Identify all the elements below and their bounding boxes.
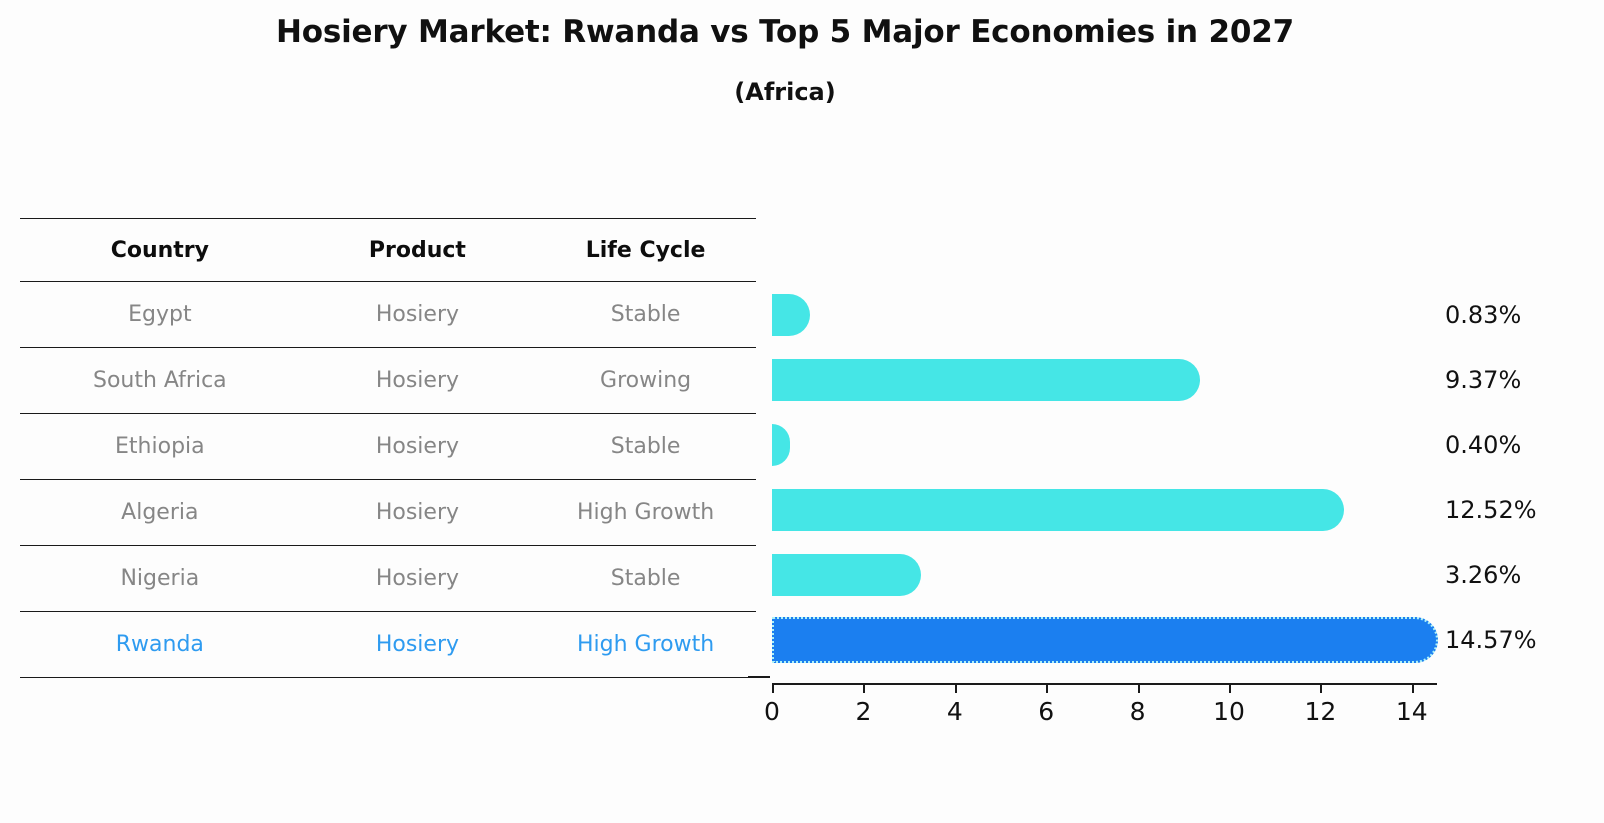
cell-product: Hosiery <box>300 282 536 348</box>
bar-row: 12.52% <box>772 478 1472 543</box>
bar <box>772 554 921 596</box>
x-axis-tick <box>1320 685 1322 693</box>
cell-product: Hosiery <box>300 612 536 678</box>
cell-country: Algeria <box>20 480 300 546</box>
table-row: Ethiopia Hosiery Stable <box>20 414 756 480</box>
cell-product: Hosiery <box>300 480 536 546</box>
x-axis-tick <box>772 685 774 693</box>
page-title: Hosiery Market: Rwanda vs Top 5 Major Ec… <box>0 14 1570 50</box>
x-axis-tick-label: 0 <box>764 697 780 726</box>
bar-row: 9.37% <box>772 348 1472 413</box>
bar-value-label: 12.52% <box>1445 489 1537 531</box>
cell-life-cycle: High Growth <box>535 612 756 678</box>
bar-value-label: 0.83% <box>1445 294 1521 336</box>
x-axis-tick-label: 8 <box>1130 697 1146 726</box>
table-row: Nigeria Hosiery Stable <box>20 546 756 612</box>
cell-life-cycle: High Growth <box>535 480 756 546</box>
x-axis-tick <box>1229 685 1231 693</box>
x-axis-tick-label: 2 <box>855 697 871 726</box>
table-header-row: Country Product Life Cycle <box>20 219 756 282</box>
x-axis-tick-label: 6 <box>1038 697 1054 726</box>
cell-country: South Africa <box>20 348 300 414</box>
x-axis-tick-label: 4 <box>947 697 963 726</box>
x-axis-tick <box>863 685 865 693</box>
table-row: Algeria Hosiery High Growth <box>20 480 756 546</box>
x-axis-tick <box>955 685 957 693</box>
x-axis-tick <box>1412 685 1414 693</box>
table-row: South Africa Hosiery Growing <box>20 348 756 414</box>
bar-value-label: 9.37% <box>1445 359 1521 401</box>
cell-life-cycle: Stable <box>535 546 756 612</box>
cell-product: Hosiery <box>300 546 536 612</box>
bar-value-label: 14.57% <box>1445 619 1537 661</box>
bar <box>772 489 1344 531</box>
page-subtitle: (Africa) <box>0 78 1570 106</box>
x-axis-tick-label: 14 <box>1396 697 1428 726</box>
axis-left-stub <box>748 676 770 678</box>
column-header-product: Product <box>300 219 536 282</box>
cell-country: Egypt <box>20 282 300 348</box>
cell-life-cycle: Growing <box>535 348 756 414</box>
bar-value-label: 0.40% <box>1445 424 1521 466</box>
bar-highlighted <box>772 617 1438 663</box>
table-row-highlighted: Rwanda Hosiery High Growth <box>20 612 756 678</box>
cell-country: Ethiopia <box>20 414 300 480</box>
bar-row: 14.57% <box>772 608 1472 673</box>
x-axis-tick <box>1046 685 1048 693</box>
x-axis: 02468101214 <box>772 683 1437 685</box>
cell-product: Hosiery <box>300 348 536 414</box>
column-header-country: Country <box>20 219 300 282</box>
x-axis-tick-label: 10 <box>1213 697 1245 726</box>
cell-country: Nigeria <box>20 546 300 612</box>
cell-life-cycle: Stable <box>535 282 756 348</box>
bar-chart-plot-area: 0.83%9.37%0.40%12.52%3.26%14.57% <box>772 283 1472 683</box>
bar-row: 0.40% <box>772 413 1472 478</box>
bar <box>772 424 790 466</box>
x-axis-tick <box>1138 685 1140 693</box>
column-header-life-cycle: Life Cycle <box>535 219 756 282</box>
bar-value-label: 3.26% <box>1445 554 1521 596</box>
cell-product: Hosiery <box>300 414 536 480</box>
cell-country: Rwanda <box>20 612 300 678</box>
table-row: Egypt Hosiery Stable <box>20 282 756 348</box>
bar-row: 0.83% <box>772 283 1472 348</box>
x-axis-tick-label: 12 <box>1304 697 1336 726</box>
bar-row: 3.26% <box>772 543 1472 608</box>
cell-life-cycle: Stable <box>535 414 756 480</box>
bar <box>772 294 810 336</box>
country-table: Country Product Life Cycle Egypt Hosiery… <box>20 218 756 678</box>
bar <box>772 359 1200 401</box>
